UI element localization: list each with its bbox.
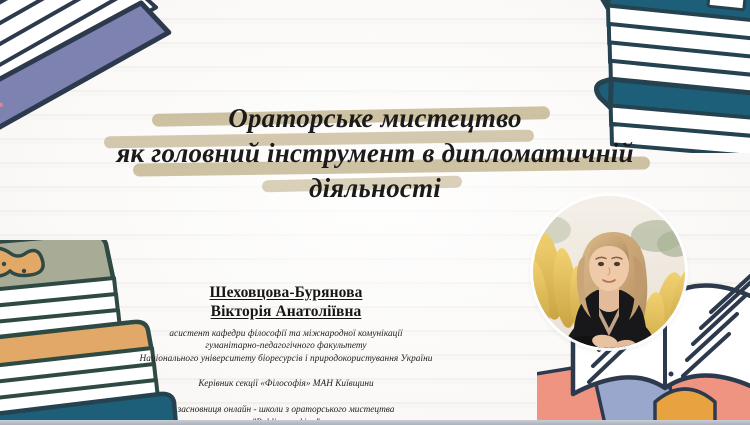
title-line-row-2: як головний інструмент в дипломатичній <box>0 138 750 173</box>
slide-bottom-edge <box>0 420 750 425</box>
presentation-slide: Ораторське мистецтво як головний інструм… <box>0 0 750 425</box>
presenter-portrait <box>533 196 685 348</box>
author-surname: Шеховцова-Бурянова <box>86 283 486 302</box>
author-info-block: Шеховцова-Бурянова Вікторія Анатоліївна … <box>86 283 486 425</box>
role-section-head: Керівник секції «Філософія» МАН Київщини <box>86 378 486 391</box>
title-line-2: як головний інструмент в дипломатичній <box>110 138 639 169</box>
book-cover-emblem-left <box>0 245 90 325</box>
portrait-photo-graphic <box>533 196 685 348</box>
slide-title: Ораторське мистецтво як головний інструм… <box>0 103 750 208</box>
author-given-name: Вікторія Анатоліївна <box>86 302 486 321</box>
title-line-1: Ораторське мистецтво <box>222 103 527 134</box>
affiliation-line-2: гуманітарно-педагогічного факультету <box>86 340 486 352</box>
author-affiliation: асистент кафедри філософії та міжнародно… <box>86 328 486 365</box>
affiliation-line-3: Національного університету біоресурсів і… <box>86 353 486 365</box>
title-line-row-1: Ораторське мистецтво <box>0 103 750 138</box>
affiliation-line-1: асистент кафедри філософії та міжнародно… <box>86 328 486 340</box>
title-line-3: діяльності <box>303 173 447 204</box>
role-founder: засновниця онлайн - школи з ораторського… <box>86 404 486 417</box>
